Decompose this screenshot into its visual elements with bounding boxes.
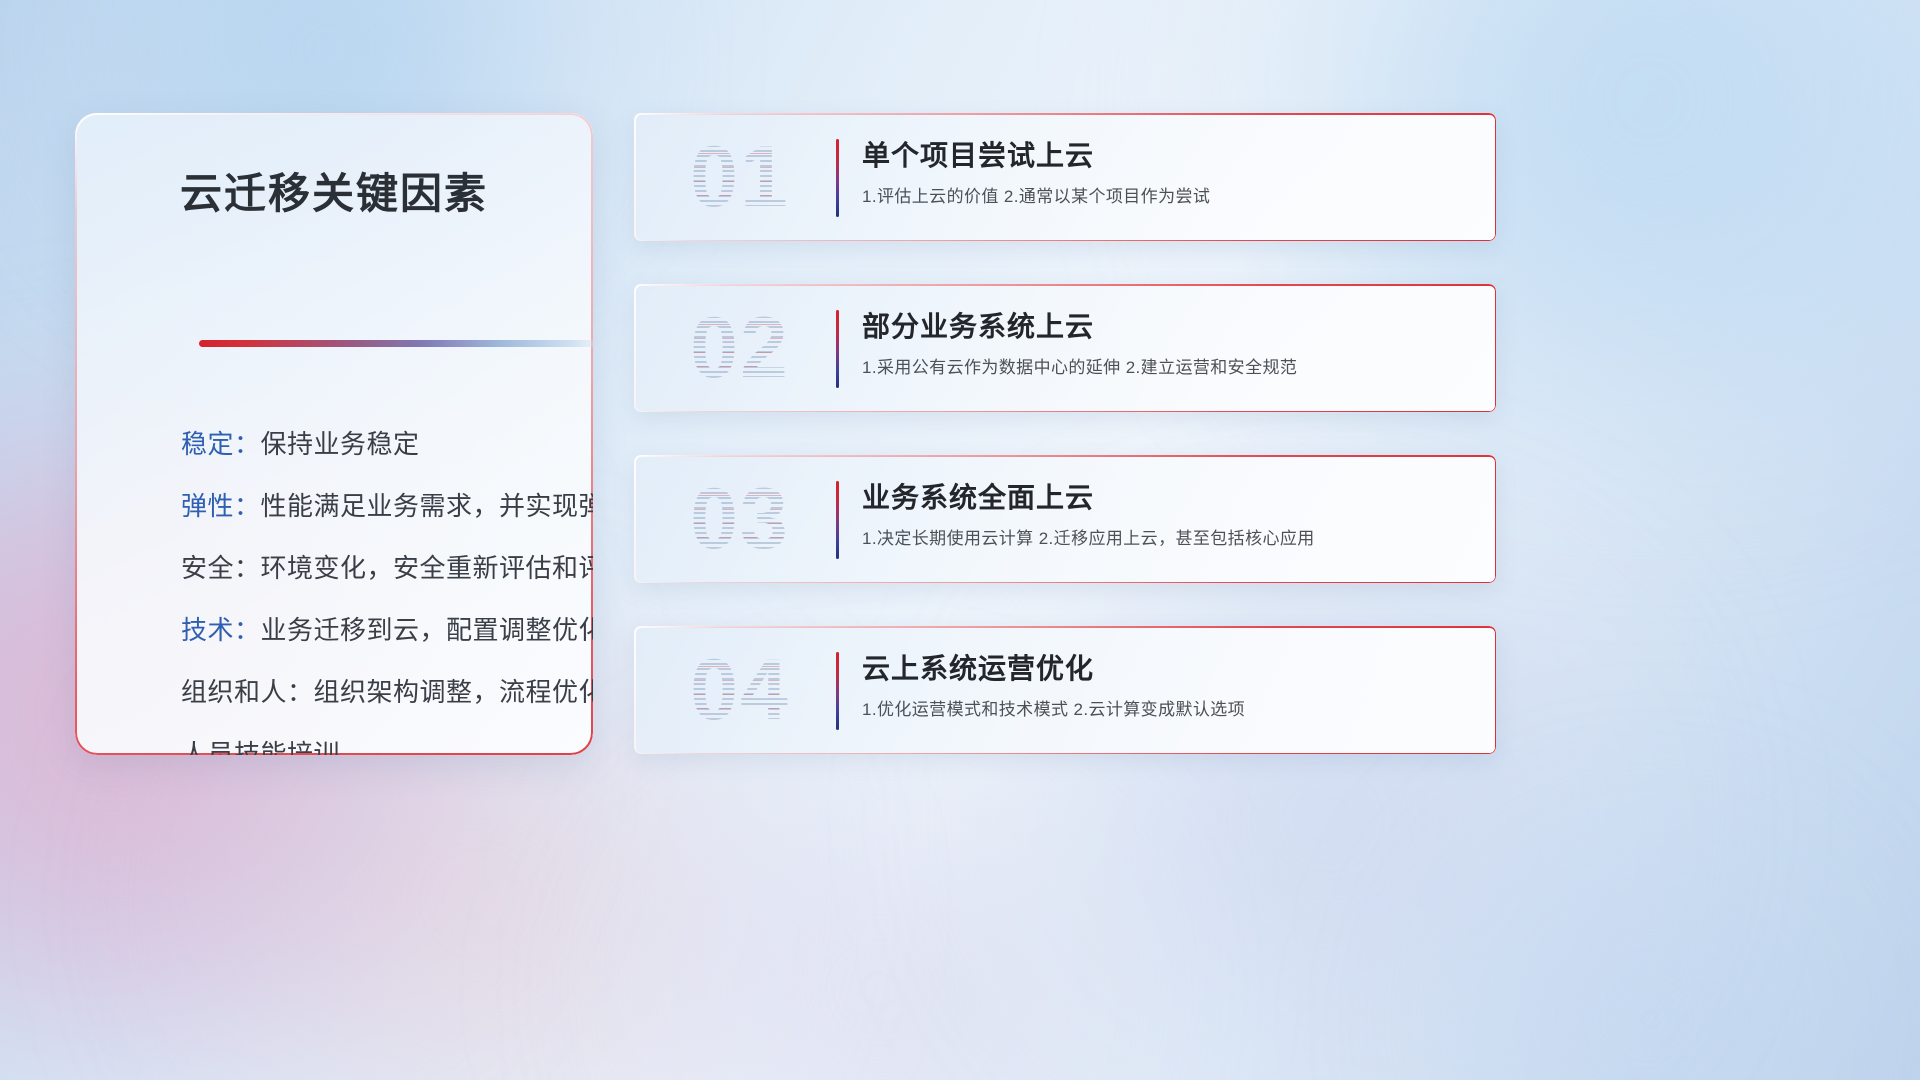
stage-body: 单个项目尝试上云1.评估上云的价值 2.通常以某个项目作为尝试 [862,135,1474,213]
key-factor-text: 人员技能培训 [181,739,340,755]
key-factor-item: 组织和人：组织架构调整，流程优化， [181,661,567,723]
key-factor-text: 性能满足业务需求，并实现弹性 [261,491,593,521]
page-title: 云迁移关键因素 [75,160,593,221]
stage-number-tint: 02 [660,296,820,400]
key-factor-text: 环境变化，安全重新评估和评审 [261,553,593,583]
key-factor-text: 保持业务稳定 [261,429,420,459]
stage-description: 1.采用公有云作为数据中心的延伸 2.建立运营和安全规范 [862,352,1474,384]
key-factor-item: 技术：业务迁移到云，配置调整优化 [181,599,567,661]
stages-list: 0101单个项目尝试上云1.评估上云的价值 2.通常以某个项目作为尝试0202部… [634,113,1496,797]
stage-divider-accent [836,310,839,388]
key-factor-label: 安全： [181,553,261,583]
stage-body: 云上系统运营优化1.优化运营模式和技术模式 2.云计算变成默认选项 [862,648,1474,726]
stage-title: 云上系统运营优化 [862,648,1474,690]
stage-number-tint: 03 [660,467,820,571]
key-factors-panel: 云迁移关键因素 稳定：保持业务稳定弹性：性能满足业务需求，并实现弹性安全：环境变… [75,113,593,755]
key-factor-item: 安全：环境变化，安全重新评估和评审 [181,537,567,599]
stage-divider-accent [836,652,839,730]
stage-title: 业务系统全面上云 [862,477,1474,519]
stage-title: 部分业务系统上云 [862,306,1474,348]
stage-card[interactable]: 0303业务系统全面上云1.决定长期使用云计算 2.迁移应用上云，甚至包括核心应… [634,455,1496,583]
stage-number-tint: 04 [660,638,820,742]
stage-card[interactable]: 0404云上系统运营优化1.优化运营模式和技术模式 2.云计算变成默认选项 [634,626,1496,754]
stage-divider-accent [836,139,839,217]
key-factors-list: 稳定：保持业务稳定弹性：性能满足业务需求，并实现弹性安全：环境变化，安全重新评估… [181,413,567,755]
stage-body: 业务系统全面上云1.决定长期使用云计算 2.迁移应用上云，甚至包括核心应用 [862,477,1474,555]
stage-card[interactable]: 0101单个项目尝试上云1.评估上云的价值 2.通常以某个项目作为尝试 [634,113,1496,241]
key-factor-label: 技术： [181,615,261,645]
stage-number-tint: 01 [660,125,820,229]
stage-description: 1.决定长期使用云计算 2.迁移应用上云，甚至包括核心应用 [862,523,1474,555]
key-factor-text: 组织架构调整，流程优化， [314,677,593,707]
key-factor-item: 人员技能培训 [181,723,567,755]
stage-body: 部分业务系统上云1.采用公有云作为数据中心的延伸 2.建立运营和安全规范 [862,306,1474,384]
key-factor-item: 稳定：保持业务稳定 [181,413,567,475]
stage-description: 1.优化运营模式和技术模式 2.云计算变成默认选项 [862,694,1474,726]
stage-card[interactable]: 0202部分业务系统上云1.采用公有云作为数据中心的延伸 2.建立运营和安全规范 [634,284,1496,412]
title-underline-accent [199,340,593,347]
key-factor-label: 组织和人： [181,677,314,707]
key-factor-label: 弹性： [181,491,261,521]
key-factor-label: 稳定： [181,429,261,459]
key-factor-item: 弹性：性能满足业务需求，并实现弹性 [181,475,567,537]
key-factor-text: 业务迁移到云，配置调整优化 [261,615,593,645]
stage-divider-accent [836,481,839,559]
stage-title: 单个项目尝试上云 [862,135,1474,177]
stage-description: 1.评估上云的价值 2.通常以某个项目作为尝试 [862,181,1474,213]
